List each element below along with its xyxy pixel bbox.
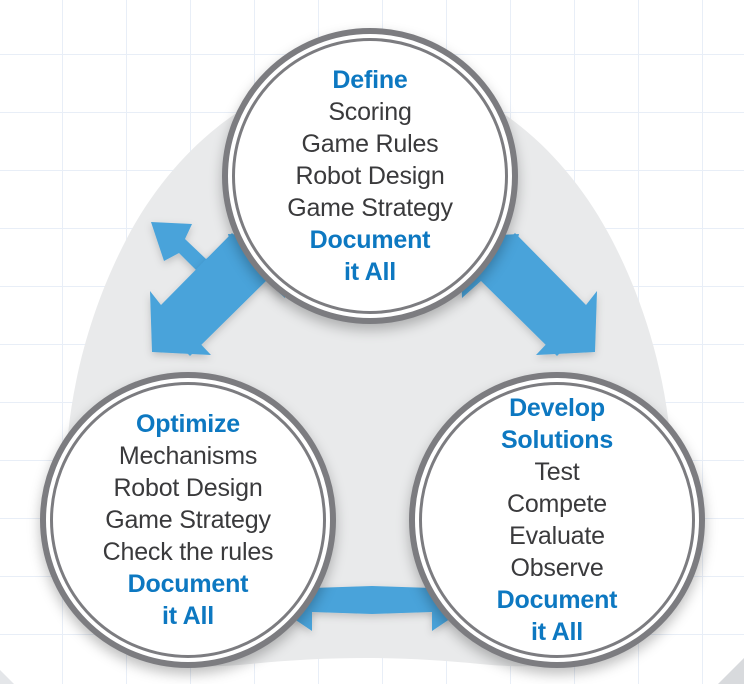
node-develop-item-4: Observe — [428, 552, 686, 584]
node-develop-heading-1: Develop — [428, 392, 686, 424]
corner-fold-bottom-left — [0, 670, 14, 684]
node-define-item-2: Game Rules — [241, 128, 499, 160]
node-optimize-item-1: Mechanisms — [59, 440, 317, 472]
node-develop-item-3: Evaluate — [428, 520, 686, 552]
node-define-footer-1: Document — [241, 224, 499, 256]
node-define-item-3: Robot Design — [241, 160, 499, 192]
node-develop-footer-2: it All — [428, 616, 686, 648]
node-optimize-item-2: Robot Design — [59, 472, 317, 504]
node-develop-footer-1: Document — [428, 584, 686, 616]
node-develop-heading-2: Solutions — [428, 424, 686, 456]
node-optimize-item-4: Check the rules — [59, 536, 317, 568]
node-optimize-footer-2: it All — [59, 600, 317, 632]
node-optimize-text: Optimize Mechanisms Robot Design Game St… — [53, 408, 323, 632]
node-optimize[interactable]: Optimize Mechanisms Robot Design Game St… — [40, 372, 336, 668]
node-define-footer-2: it All — [241, 256, 499, 288]
node-define-text: Define Scoring Game Rules Robot Design G… — [235, 64, 505, 288]
node-develop-item-1: Test — [428, 456, 686, 488]
corner-fold-bottom-right — [718, 658, 744, 684]
node-optimize-heading: Optimize — [59, 408, 317, 440]
diagram-canvas: Define Scoring Game Rules Robot Design G… — [0, 0, 744, 684]
node-optimize-footer-1: Document — [59, 568, 317, 600]
node-define-item-1: Scoring — [241, 96, 499, 128]
node-develop-item-2: Compete — [428, 488, 686, 520]
node-define-item-4: Game Strategy — [241, 192, 499, 224]
node-develop-solutions[interactable]: Develop Solutions Test Compete Evaluate … — [409, 372, 705, 668]
node-define[interactable]: Define Scoring Game Rules Robot Design G… — [222, 28, 518, 324]
node-optimize-item-3: Game Strategy — [59, 504, 317, 536]
node-define-heading: Define — [241, 64, 499, 96]
node-develop-text: Develop Solutions Test Compete Evaluate … — [422, 392, 692, 648]
